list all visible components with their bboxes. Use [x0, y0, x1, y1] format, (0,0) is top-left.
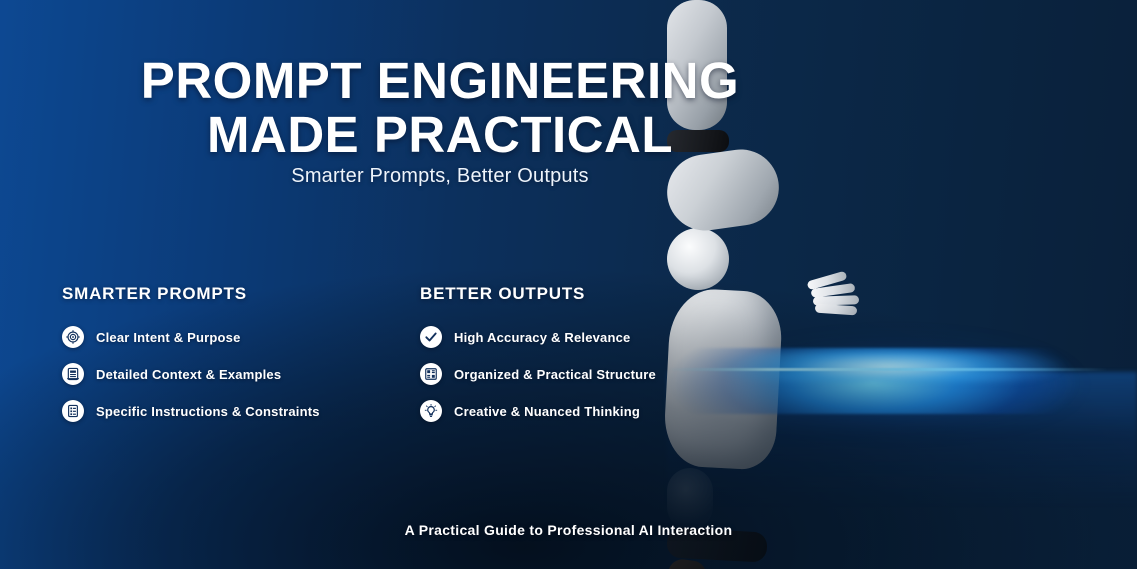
- feature-label: Detailed Context & Examples: [96, 367, 281, 382]
- title-line-1: PROMPT ENGINEERING: [141, 52, 739, 109]
- column-heading: SMARTER PROMPTS: [62, 284, 320, 304]
- document-lines-icon: [62, 363, 84, 385]
- feature-item[interactable]: Clear Intent & Purpose: [62, 326, 320, 348]
- checklist-document-icon: [62, 400, 84, 422]
- feature-label: Creative & Nuanced Thinking: [454, 404, 640, 419]
- lightbulb-icon: [420, 400, 442, 422]
- column-smarter-prompts: SMARTER PROMPTS Clear Intent & Purpose: [62, 284, 320, 437]
- feature-item[interactable]: Creative & Nuanced Thinking: [420, 400, 656, 422]
- feature-label: Clear Intent & Purpose: [96, 330, 241, 345]
- target-icon: [62, 326, 84, 348]
- feature-label: Organized & Practical Structure: [454, 367, 656, 382]
- feature-item[interactable]: High Accuracy & Relevance: [420, 326, 656, 348]
- title-line-2: MADE PRACTICAL: [0, 108, 880, 162]
- checkmark-icon: [420, 326, 442, 348]
- column-better-outputs: BETTER OUTPUTS High Accuracy & Relevance: [420, 284, 656, 437]
- feature-item[interactable]: Organized & Practical Structure: [420, 363, 656, 385]
- page-subtitle: Smarter Prompts, Better Outputs: [0, 165, 880, 188]
- poster-canvas: PROMPT ENGINEERING MADE PRACTICAL Smarte…: [0, 0, 1137, 569]
- feature-label: High Accuracy & Relevance: [454, 330, 630, 345]
- column-heading: BETTER OUTPUTS: [420, 284, 656, 304]
- feature-item[interactable]: Specific Instructions & Constraints: [62, 400, 320, 422]
- grid-structure-icon: [420, 363, 442, 385]
- footer-tagline: A Practical Guide to Professional AI Int…: [0, 522, 1137, 538]
- feature-label: Specific Instructions & Constraints: [96, 404, 320, 419]
- page-title: PROMPT ENGINEERING MADE PRACTICAL: [0, 54, 880, 161]
- feature-item[interactable]: Detailed Context & Examples: [62, 363, 320, 385]
